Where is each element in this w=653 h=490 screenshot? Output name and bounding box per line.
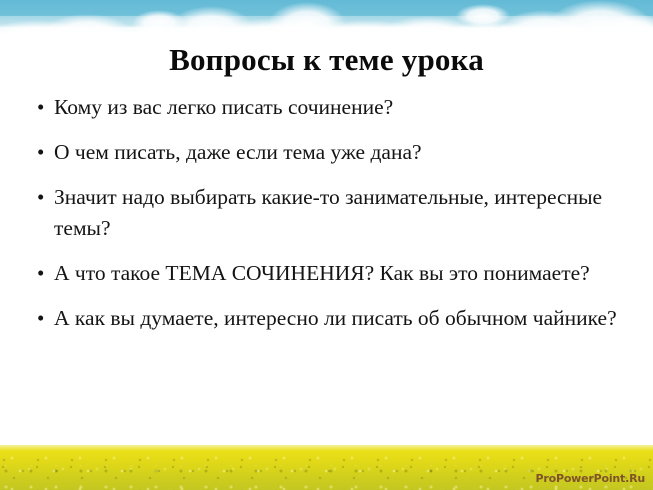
- bullet-marker-icon: •: [33, 258, 54, 289]
- list-item-text: О чем писать, даже если тема уже дана?: [54, 137, 629, 168]
- list-item-text: А что такое ТЕМА СОЧИНЕНИЯ? Как вы это п…: [54, 258, 629, 289]
- bullet-marker-icon: •: [33, 182, 54, 213]
- list-item: • Кому из вас легко писать сочинение?: [33, 92, 629, 123]
- list-item: • А что такое ТЕМА СОЧИНЕНИЯ? Как вы это…: [33, 258, 629, 289]
- list-item: • Значит надо выбирать какие-то занимате…: [33, 182, 629, 244]
- slide-title: Вопросы к теме урока: [0, 42, 653, 78]
- slide: Вопросы к теме урока • Кому из вас легко…: [0, 0, 653, 490]
- sky-banner-image: [0, 0, 653, 39]
- field-top-blend: [0, 445, 653, 451]
- bullet-marker-icon: •: [33, 303, 54, 334]
- bullet-marker-icon: •: [33, 137, 54, 168]
- list-item: • О чем писать, даже если тема уже дана?: [33, 137, 629, 168]
- list-item-text: Кому из вас легко писать сочинение?: [54, 92, 629, 123]
- bullet-list: • Кому из вас легко писать сочинение? • …: [33, 92, 629, 334]
- watermark-text: ProPowerPoint.Ru: [536, 472, 645, 485]
- list-item-text: Значит надо выбирать какие-то заниматель…: [54, 182, 629, 244]
- list-item: • А как вы думаете, интересно ли писать …: [33, 303, 629, 334]
- sky-fade-to-white: [0, 24, 653, 39]
- list-item-text: А как вы думаете, интересно ли писать об…: [54, 303, 629, 334]
- bullet-marker-icon: •: [33, 92, 54, 123]
